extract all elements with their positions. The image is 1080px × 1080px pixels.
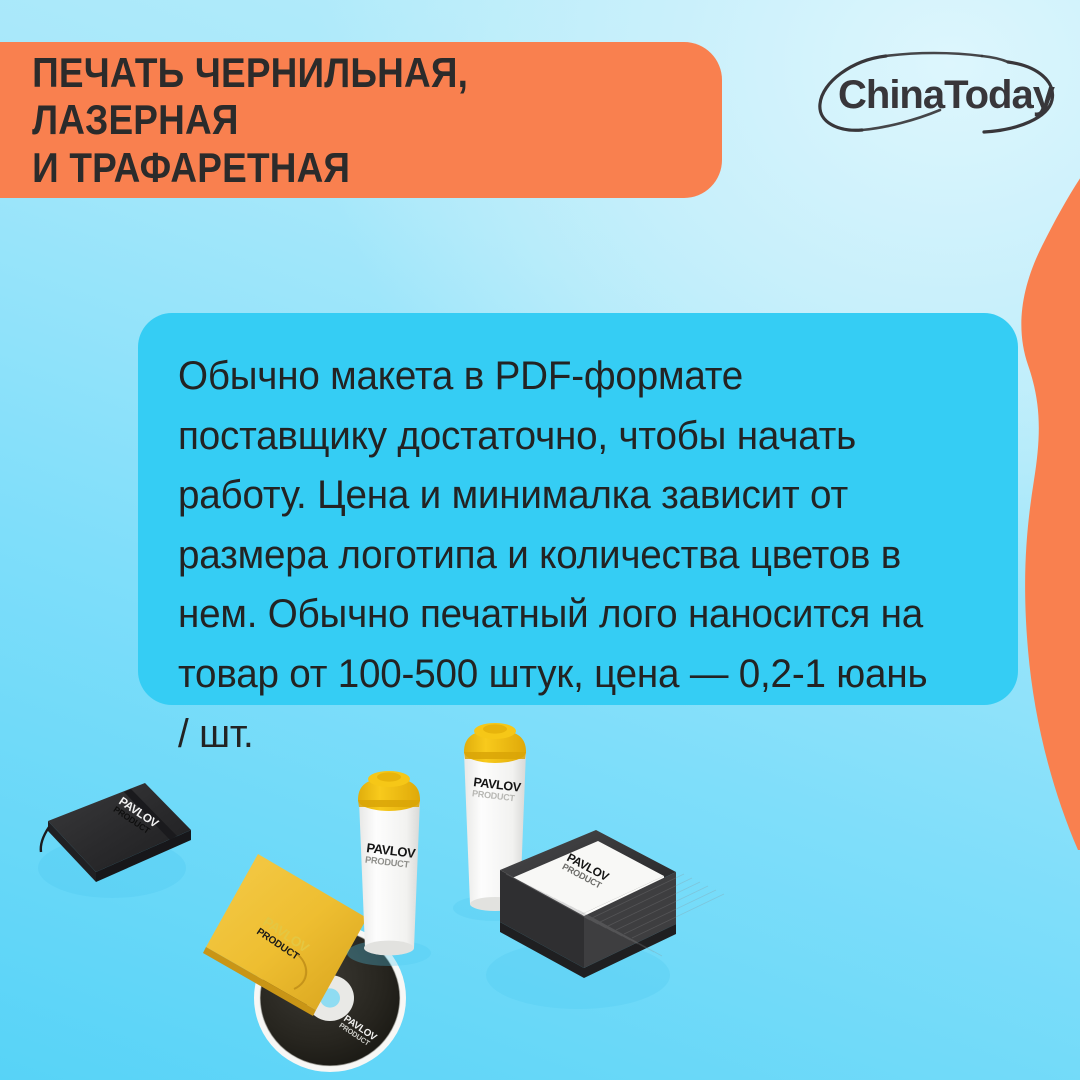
slide-canvas: ПЕЧАТЬ ЧЕРНИЛЬНАЯ, ЛАЗЕРНАЯ И ТРАФАРЕТНА…: [0, 0, 1080, 1080]
black-notebook: PAVLOV PRODUCT: [38, 783, 191, 898]
page-title: ПЕЧАТЬ ЧЕРНИЛЬНАЯ, ЛАЗЕРНАЯ И ТРАФАРЕТНА…: [0, 49, 631, 190]
info-card: Обычно макета в PDF-формате поставщику д…: [138, 313, 1018, 705]
product-photo: PAVLOV PRODUCT PAVLOV PRODUCT: [0, 690, 760, 1080]
chinatoday-logo[interactable]: ChinaToday ChinaToday: [812, 46, 1064, 142]
logo-wordmark: ChinaToday: [838, 73, 1056, 117]
header-pill: ПЕЧАТЬ ЧЕРНИЛЬНАЯ, ЛАЗЕРНАЯ И ТРАФАРЕТНА…: [0, 42, 722, 198]
